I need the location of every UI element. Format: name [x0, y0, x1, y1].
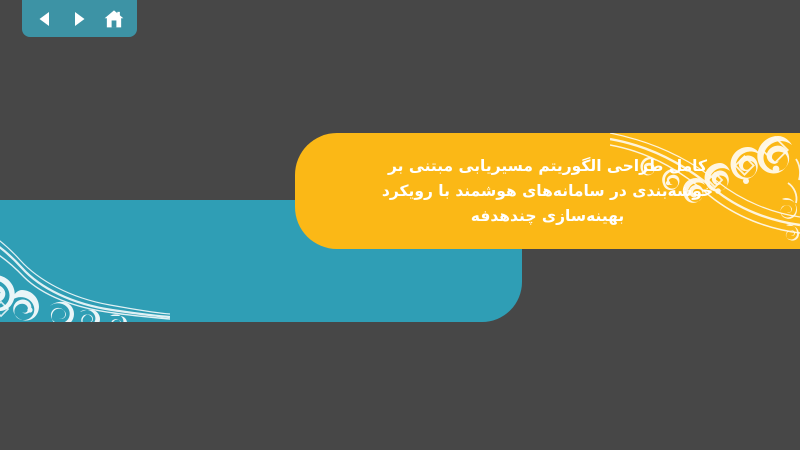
- arabesque-ornament-orange: [610, 133, 800, 249]
- triangle-right-icon: [69, 9, 89, 29]
- navigation-bar: [22, 0, 137, 37]
- arabesque-ornament-teal: [0, 200, 170, 322]
- previous-button[interactable]: [32, 6, 58, 32]
- next-button[interactable]: [66, 6, 92, 32]
- home-button[interactable]: [101, 6, 127, 32]
- home-icon: [103, 8, 125, 30]
- slide-canvas: کامل طراحی الگوریتم مسیریابی مبتنی بر خو…: [0, 0, 800, 450]
- triangle-left-icon: [35, 9, 55, 29]
- orange-title-band: [295, 133, 800, 249]
